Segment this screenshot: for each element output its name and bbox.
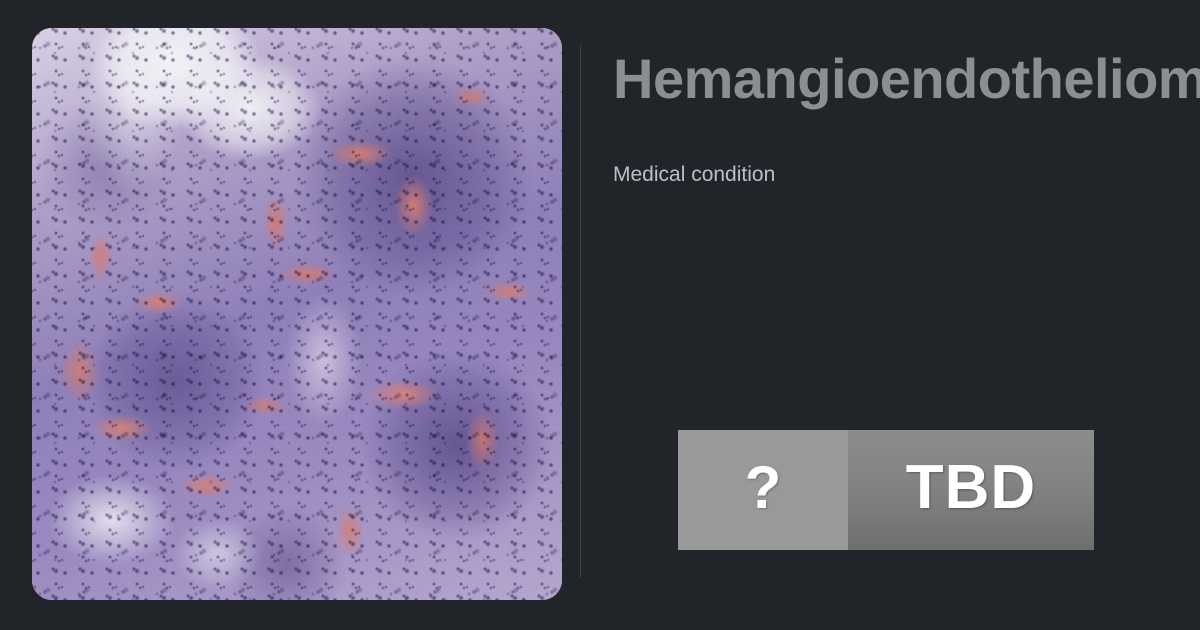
status-badge-icon-section: ? [678,430,848,550]
histology-grain-layer [32,28,562,600]
histology-micrograph[interactable] [32,28,562,600]
vertical-divider [580,45,581,578]
page-title: Hemangioendothelioma [613,47,1200,111]
status-badge[interactable]: ? TBD [678,430,1094,550]
status-badge-label-section: TBD [848,430,1094,550]
og-preview-card: Hemangioendothelioma Medical condition ?… [0,0,1200,630]
info-pane: Hemangioendothelioma Medical condition ?… [613,0,1200,630]
thumbnail-pane [32,28,562,600]
page-subtitle: Medical condition [613,163,775,187]
status-badge-label: TBD [906,457,1036,519]
question-mark-icon: ? [745,458,782,518]
